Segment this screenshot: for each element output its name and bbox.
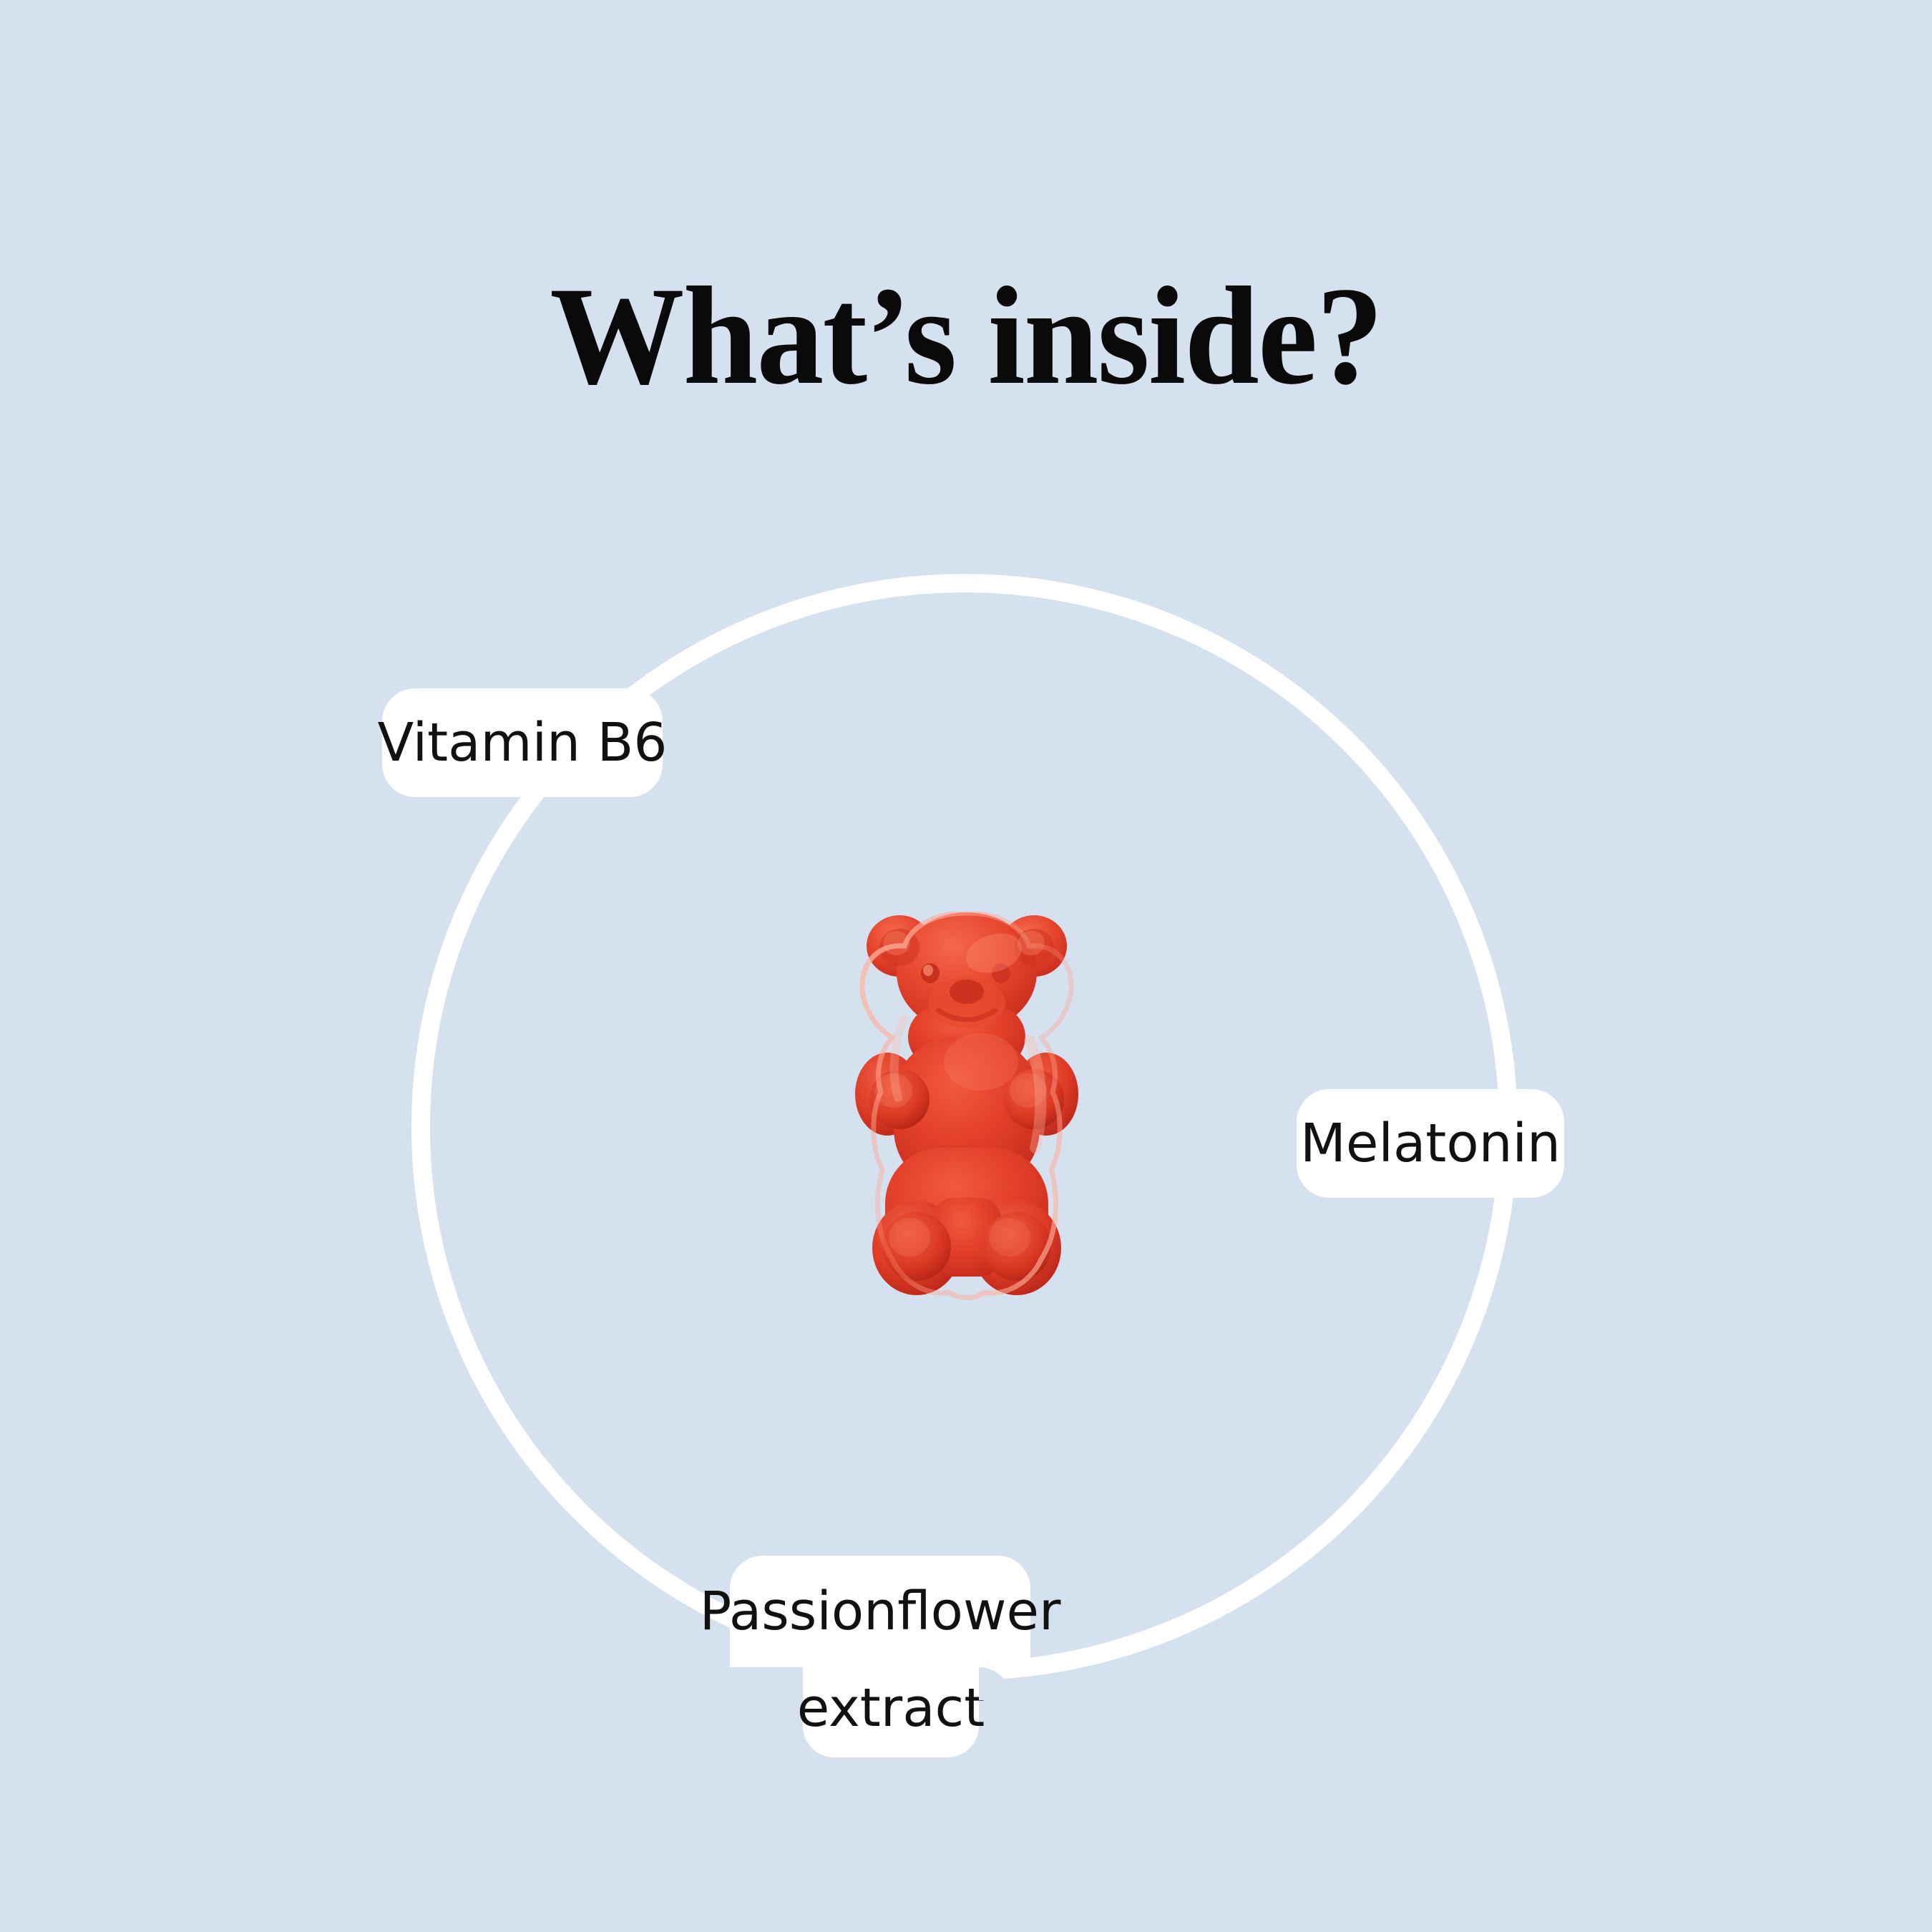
ingredient-label-passionflower-extract[interactable]: extract [803, 1659, 979, 1757]
gummy-bear-image [854, 912, 1080, 1302]
ingredient-label-passionflower[interactable]: Passionflower [730, 1556, 1030, 1667]
ingredient-label-melatonin[interactable]: Melatonin [1297, 1089, 1564, 1198]
ingredient-label-vitamin-b6[interactable]: Vitamin B6 [382, 688, 663, 797]
infographic-canvas: What’s inside? [0, 0, 1932, 1932]
gummy-bear-icon [854, 912, 1080, 1302]
